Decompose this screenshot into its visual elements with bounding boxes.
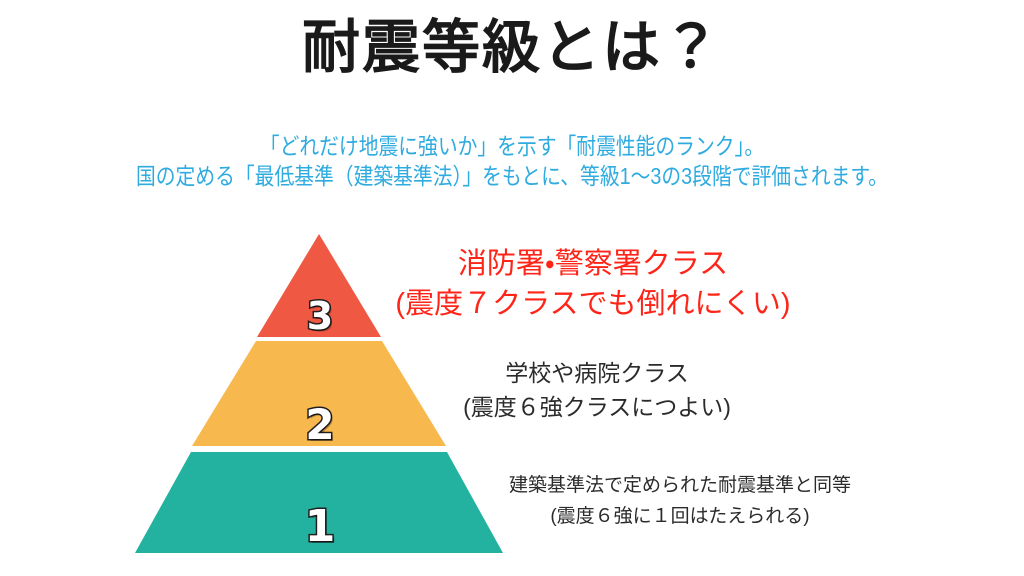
tier-2-note: (震度６強クラスにつよい)	[432, 392, 762, 422]
subtitle-line-2: 国の定める「最低基準（建築基準法）」をもとに、等級1〜3の3段階で評価されます。	[72, 161, 953, 191]
tier-3-heading: 消防署・警察署クラス	[393, 245, 793, 283]
page-title: 耐震等級とは？	[0, 16, 1024, 80]
subtitle-line-1: 「どれだけ地震に強いか」を示す「耐震性能のランク」。	[72, 131, 953, 161]
tier-1-note: (震度６強に１回はたえられる)	[480, 504, 880, 529]
pyramid-tier-1-rank: 1	[130, 505, 510, 549]
tier-2-description: 学校や病院クラス (震度６強クラスにつよい)	[432, 358, 762, 423]
tier-3-description: 消防署・警察署クラス (震度７クラスでも倒れにくい)	[393, 245, 793, 324]
tier-2-heading: 学校や病院クラス	[432, 358, 762, 388]
tier-1-description: 建築基準法で定められた耐震基準と同等 (震度６強に１回はたえられる)	[480, 473, 880, 529]
tier-1-heading: 建築基準法で定められた耐震基準と同等	[480, 473, 880, 498]
tier-3-note: (震度７クラスでも倒れにくい)	[393, 285, 793, 323]
subtitle-block: 「どれだけ地震に強いか」を示す「耐震性能のランク」。 国の定める「最低基準（建築…	[72, 131, 953, 191]
